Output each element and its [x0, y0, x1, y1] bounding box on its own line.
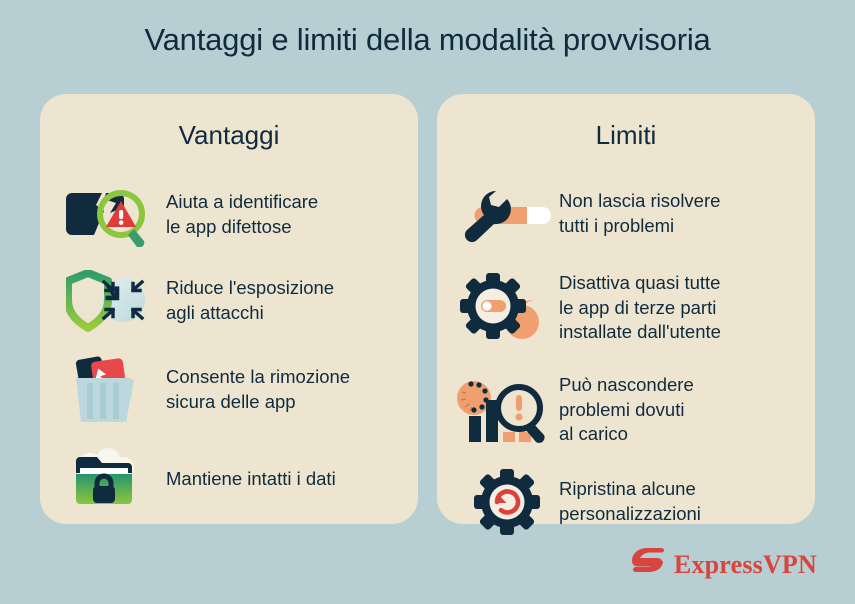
- list-item-text: Mantiene intatti i dati: [166, 467, 346, 492]
- list-item-line: sicura delle app: [166, 390, 350, 415]
- list-item-line: problemi dovuti: [559, 398, 694, 423]
- panel-heading-limiti: Limiti: [437, 120, 815, 151]
- list-item-line: Aiuta a identificare: [166, 190, 318, 215]
- gear-toggle-apple-icon: [455, 271, 559, 345]
- page-title: Vantaggi e limiti della modalità provvis…: [0, 22, 855, 58]
- list-item-line: agli attacchi: [166, 301, 334, 326]
- list-item-text: Riduce l'esposizione agli attacchi: [166, 276, 344, 325]
- expressvpn-e-logo-icon: [631, 547, 665, 582]
- list-item-line: le app difettose: [166, 215, 318, 240]
- list-item-text: Può nascondere problemi dovuti al carico: [559, 373, 704, 447]
- list-item: Aiuta a identificare le app difettose: [40, 172, 418, 258]
- list-item-text: Consente la rimozione sicura delle app: [166, 365, 360, 414]
- broken-app-warning-magnifier-icon: [62, 178, 166, 252]
- list-item: Disattiva quasi tutte le app di terze pa…: [437, 256, 815, 360]
- cloud-folder-lock-icon: [62, 442, 166, 516]
- list-item-line: personalizzazioni: [559, 502, 701, 527]
- list-item-text: Non lascia risolvere tutti i problemi: [559, 189, 730, 238]
- list-item: Non lascia risolvere tutti i problemi: [437, 172, 815, 256]
- list-item-line: Ripristina alcune: [559, 477, 701, 502]
- list-item: Consente la rimozione sicura delle app: [40, 344, 418, 436]
- list-item-line: al carico: [559, 422, 694, 447]
- panel-limiti: Limiti Non lascia risolvere tutti i prob…: [437, 94, 815, 524]
- trash-apps-icon: [62, 353, 166, 427]
- list-item-line: Consente la rimozione: [166, 365, 350, 390]
- list-item-line: Disattiva quasi tutte: [559, 271, 721, 296]
- list-item-text: Ripristina alcune personalizzazioni: [559, 477, 711, 526]
- gear-restore-icon: [455, 465, 559, 539]
- list-item: Mantiene intatti i dati: [40, 436, 418, 522]
- shield-shrink-arrows-icon: [62, 264, 166, 338]
- list-item-line: le app di terze parti: [559, 296, 721, 321]
- expressvpn-brand: ExpressVPN: [631, 547, 817, 582]
- list-item-text: Aiuta a identificare le app difettose: [166, 190, 328, 239]
- panel-heading-vantaggi: Vantaggi: [40, 120, 418, 151]
- wrench-progress-bar-icon: [455, 177, 559, 251]
- panel-items-vantaggi: Aiuta a identificare le app difettose: [40, 172, 418, 522]
- list-item-line: installate dall'utente: [559, 320, 721, 345]
- infographic-canvas: Vantaggi e limiti della modalità provvis…: [0, 0, 855, 604]
- list-item-line: tutti i problemi: [559, 214, 720, 239]
- bar-chart-magnifier-alert-icon: [455, 373, 559, 447]
- list-item-line: Può nascondere: [559, 373, 694, 398]
- list-item-line: Non lascia risolvere: [559, 189, 720, 214]
- list-item-line: Mantiene intatti i dati: [166, 467, 336, 492]
- list-item: Ripristina alcune personalizzazioni: [437, 460, 815, 544]
- expressvpn-wordmark: ExpressVPN: [674, 550, 817, 580]
- panel-vantaggi: Vantaggi Aiuta a identificare: [40, 94, 418, 524]
- list-item: Può nascondere problemi dovuti al carico: [437, 360, 815, 460]
- list-item-text: Disattiva quasi tutte le app di terze pa…: [559, 271, 731, 345]
- panel-items-limiti: Non lascia risolvere tutti i problemi: [437, 172, 815, 544]
- list-item: Riduce l'esposizione agli attacchi: [40, 258, 418, 344]
- list-item-line: Riduce l'esposizione: [166, 276, 334, 301]
